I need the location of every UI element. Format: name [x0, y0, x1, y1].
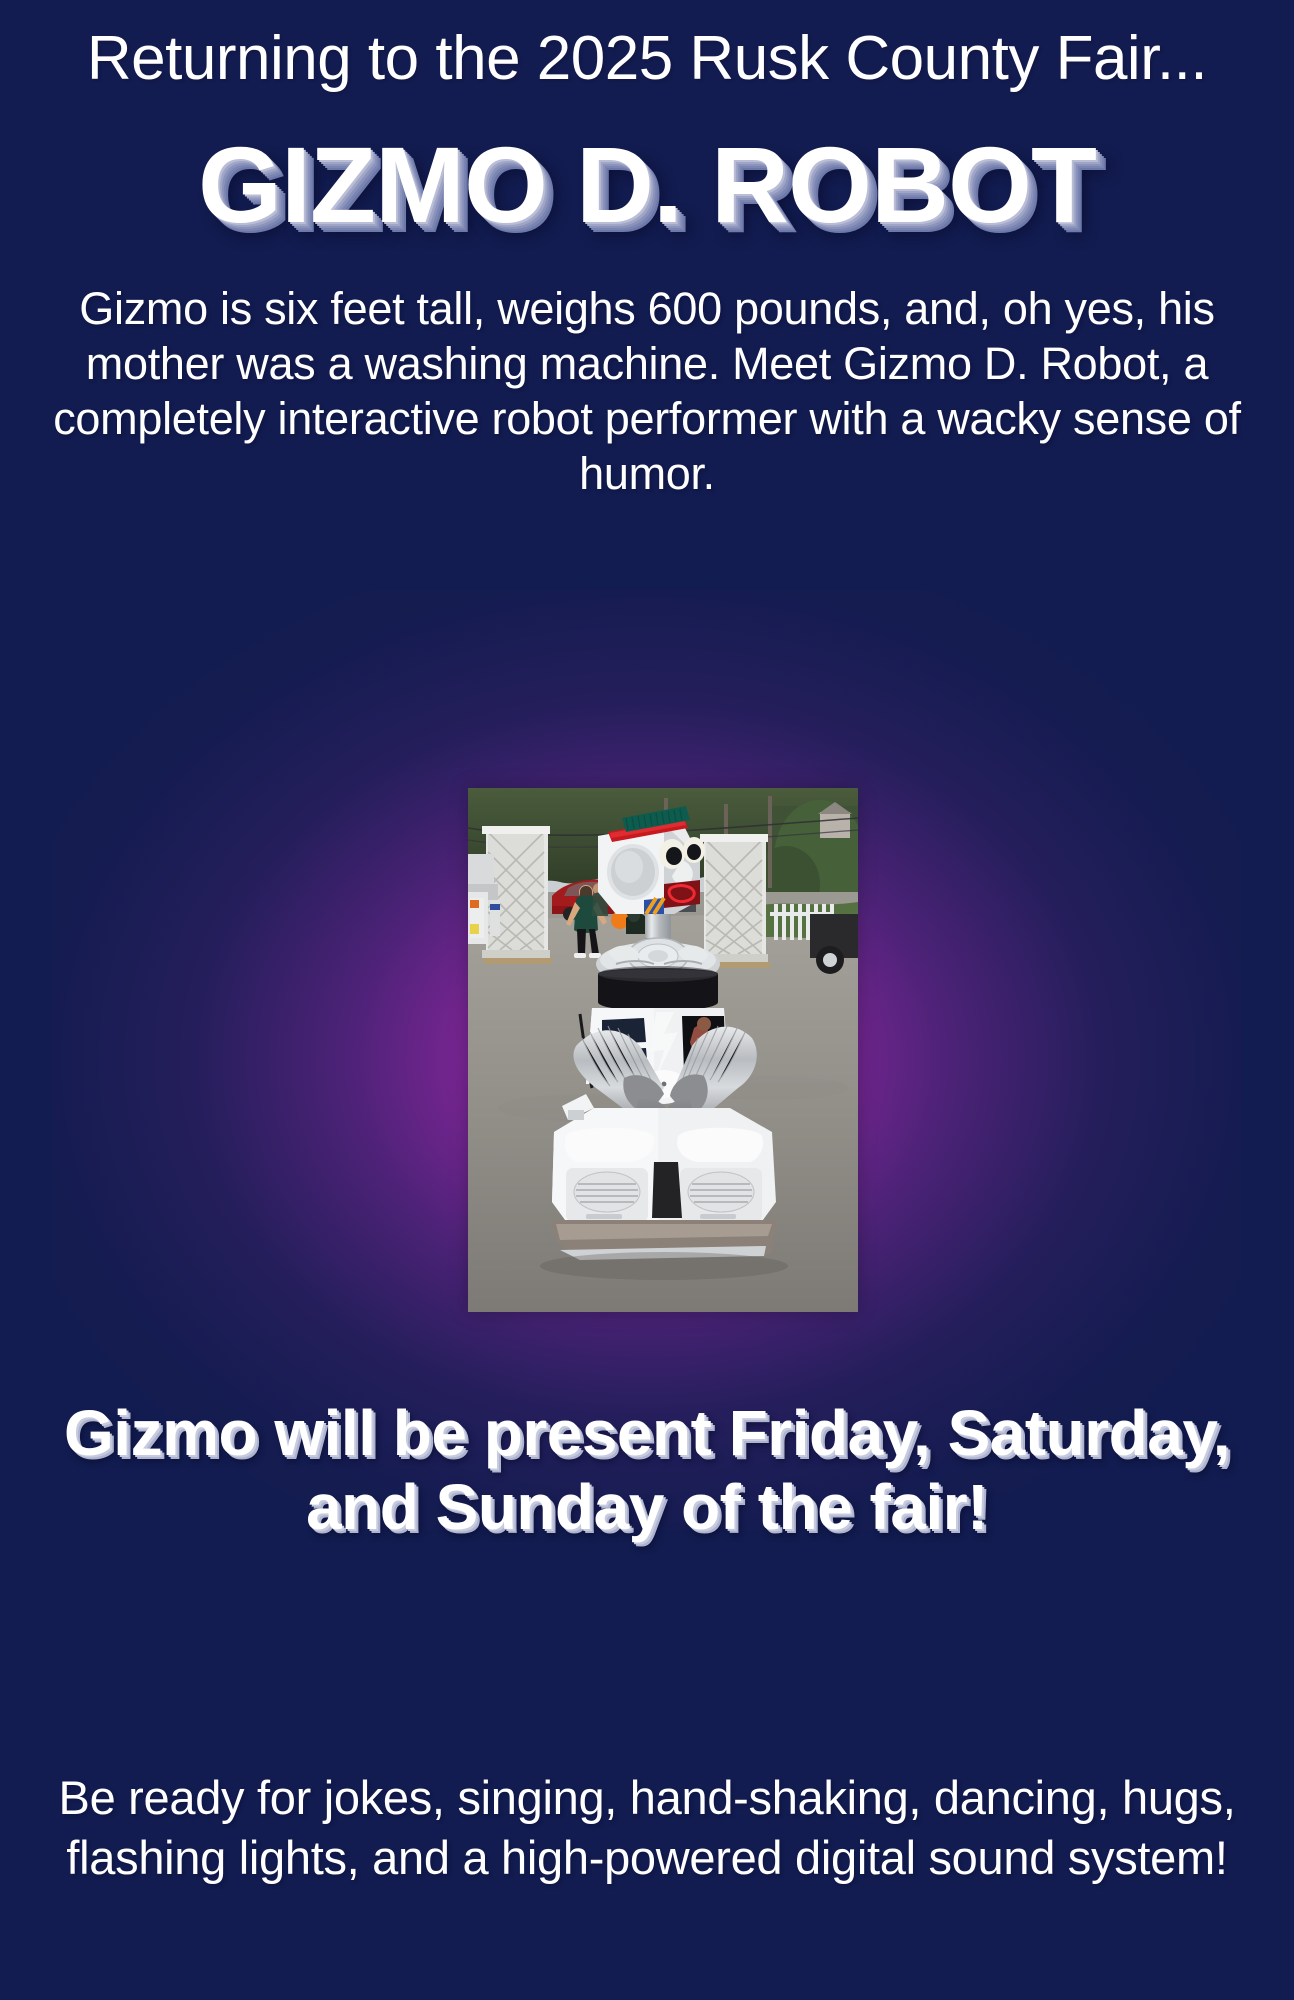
outro-paragraph: Be ready for jokes, singing, hand-shakin… — [50, 1768, 1244, 1888]
robot-photo — [468, 788, 858, 1312]
kicker-text: Returning to the 2025 Rusk County Fair..… — [0, 24, 1294, 93]
schedule-headline: Gizmo will be present Friday, Saturday, … — [60, 1396, 1234, 1544]
robot-photo-illustration — [468, 788, 858, 1312]
poster-content: Returning to the 2025 Rusk County Fair..… — [0, 0, 1294, 2000]
poster-background: Returning to the 2025 Rusk County Fair..… — [0, 0, 1294, 2000]
page-title: GIZMO D. ROBOT — [0, 126, 1294, 245]
lead-paragraph: Gizmo is six feet tall, weighs 600 pound… — [8, 282, 1286, 502]
